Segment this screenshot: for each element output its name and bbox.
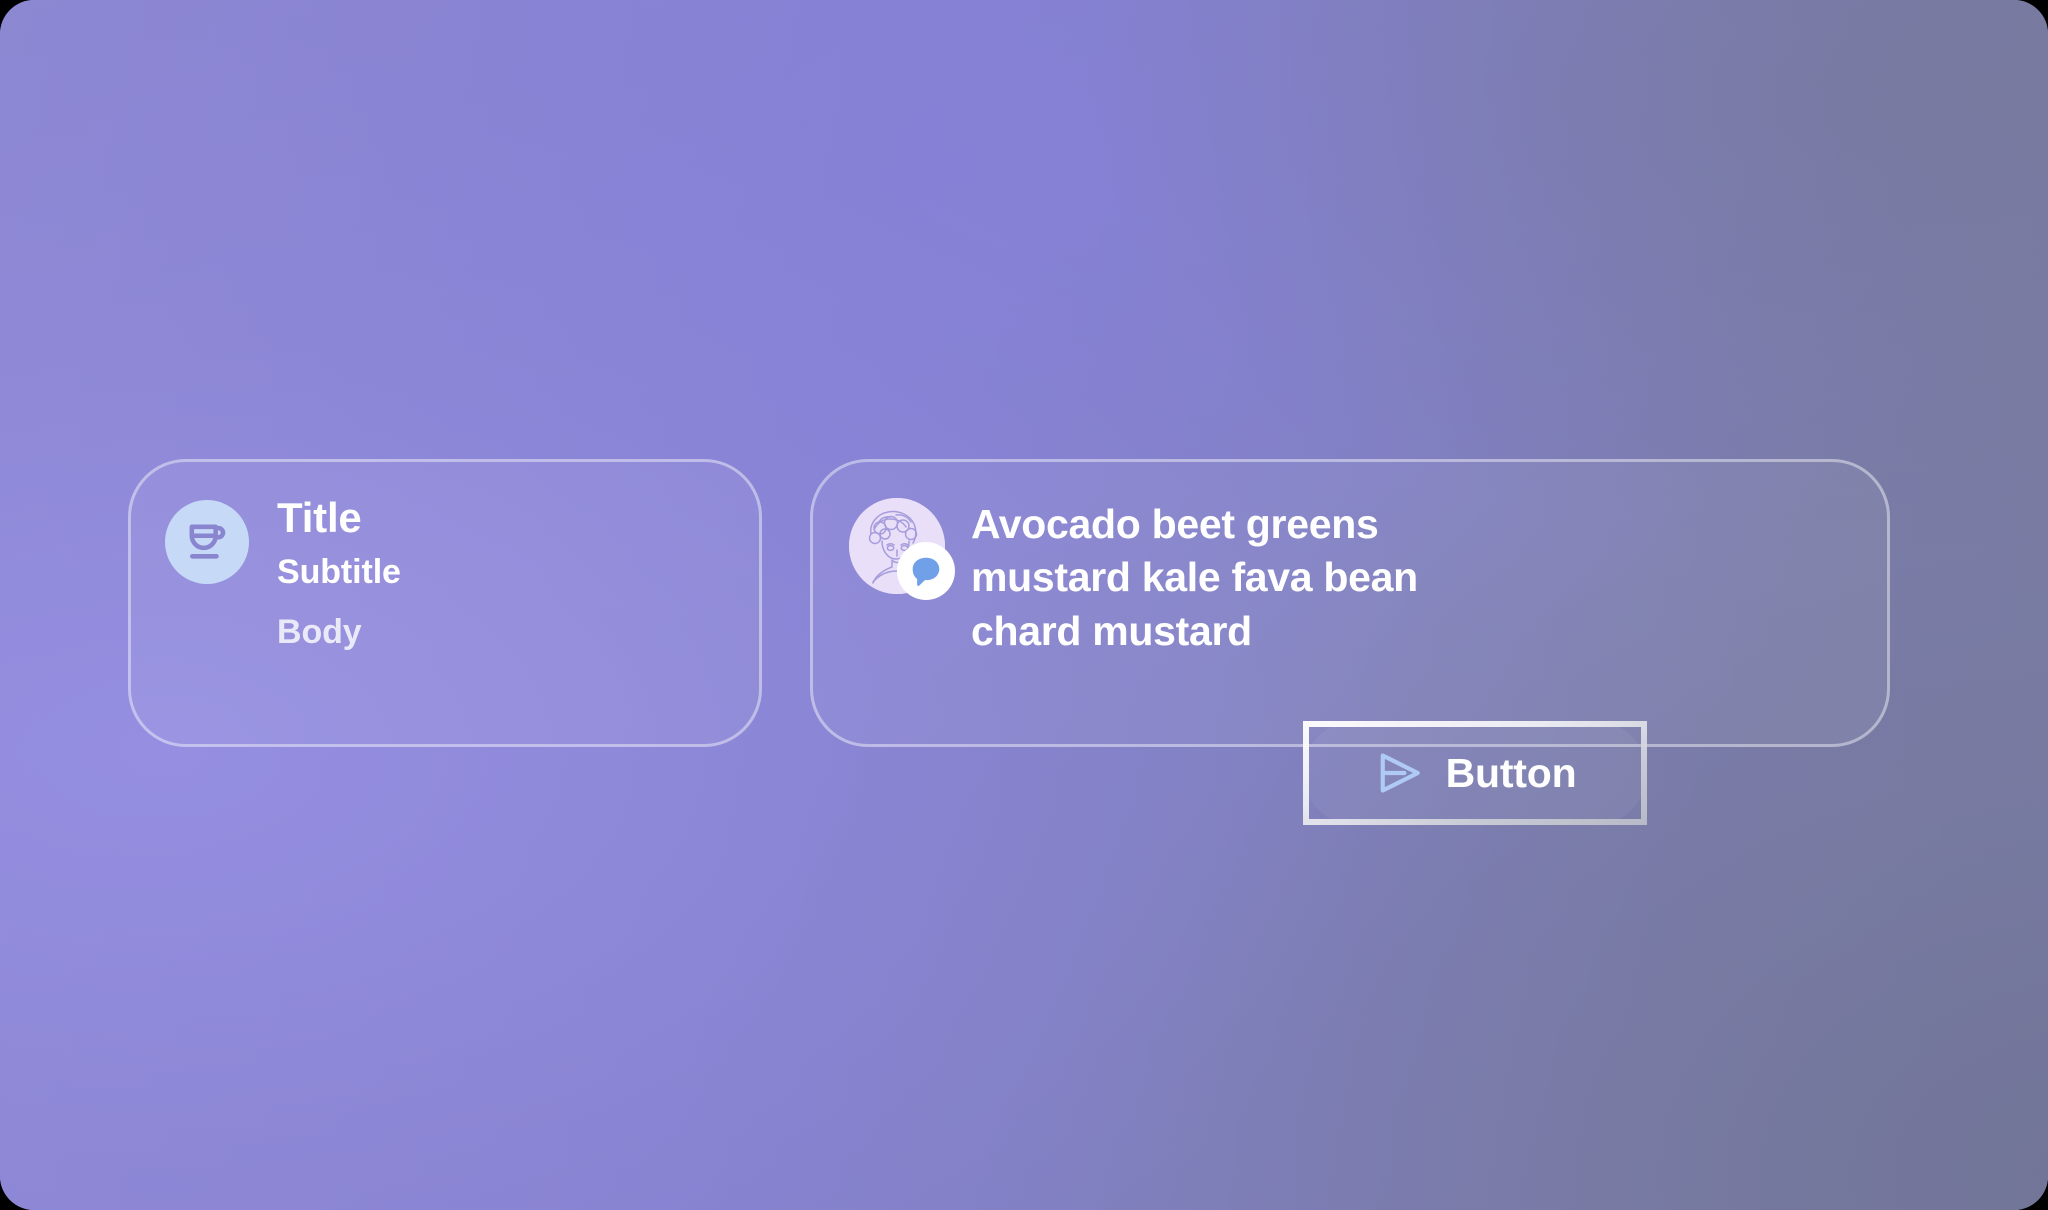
app-canvas: Title Subtitle Body [0, 0, 2048, 1210]
basic-card-content: Title Subtitle Body [165, 490, 401, 664]
basic-card-text-stack: Title Subtitle Body [277, 490, 401, 664]
card-subtitle: Subtitle [277, 545, 401, 599]
send-button[interactable]: Button [1303, 721, 1647, 825]
basic-list-card[interactable]: Title Subtitle Body [128, 459, 762, 747]
coffee-cup-icon [165, 500, 249, 584]
card-body: Body [277, 600, 401, 665]
send-button-label: Button [1446, 750, 1577, 797]
avatar[interactable] [849, 498, 945, 594]
avatar-list-card[interactable]: Avocado beet greens mustard kale fava be… [810, 459, 1890, 747]
send-icon [1374, 748, 1424, 798]
avatar-card-content: Avocado beet greens mustard kale fava be… [849, 498, 1441, 658]
avatar-card-title: Avocado beet greens mustard kale fava be… [971, 498, 1441, 658]
chat-bubble-badge [897, 542, 955, 600]
card-title: Title [277, 490, 401, 545]
